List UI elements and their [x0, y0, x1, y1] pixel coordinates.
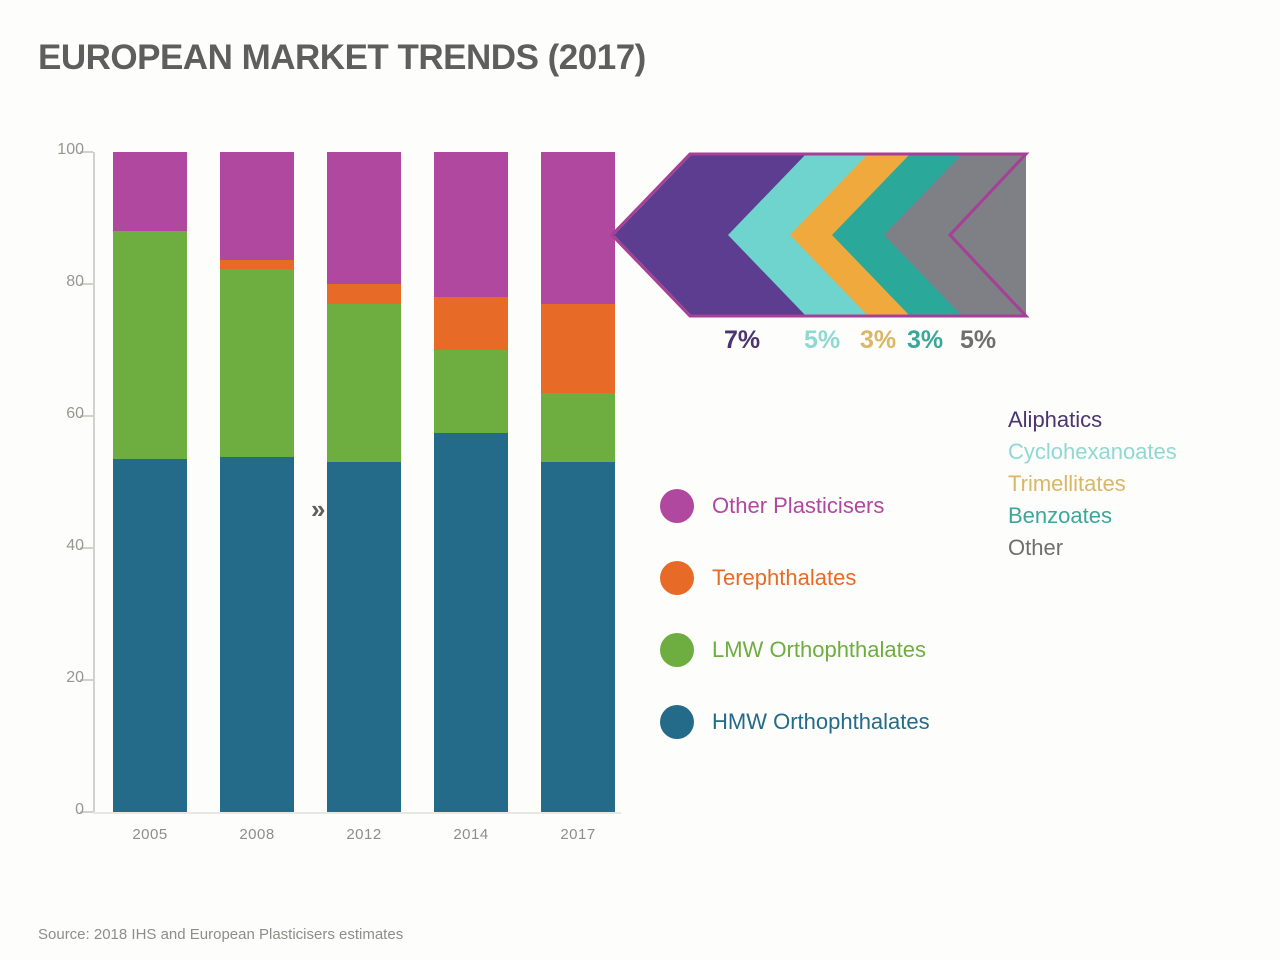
legend-label: LMW Orthophthalates	[712, 637, 926, 663]
bar-segment[interactable]	[327, 304, 401, 462]
breakdown-percent: 7%	[724, 326, 760, 355]
bar-2012[interactable]	[327, 152, 401, 812]
x-tick-label: 2017	[541, 826, 615, 843]
legend-label: Terephthalates	[712, 565, 856, 591]
bar-segment[interactable]	[434, 152, 508, 297]
breakdown-legend-item[interactable]: Other	[1008, 534, 1268, 562]
x-tick-label: 2008	[220, 826, 294, 843]
bar-segment[interactable]	[113, 152, 187, 231]
bar-segment[interactable]	[327, 462, 401, 812]
chevron-svg	[610, 150, 1030, 320]
bar-segment[interactable]	[327, 284, 401, 304]
bar-segment[interactable]	[113, 231, 187, 459]
expand-chevrons-icon: »	[311, 494, 323, 525]
bar-2014[interactable]	[434, 152, 508, 812]
legend-color-dot	[660, 489, 694, 523]
x-tick-label: 2014	[434, 826, 508, 843]
x-tick-label: 2005	[113, 826, 187, 843]
legend-label: Other Plasticisers	[712, 493, 884, 519]
y-tick-label: 40	[38, 537, 84, 555]
bar-2008[interactable]	[220, 152, 294, 812]
y-tick-label: 100	[38, 141, 84, 159]
bar-2005[interactable]	[113, 152, 187, 812]
bar-segment[interactable]	[113, 459, 187, 812]
bar-segment[interactable]	[434, 433, 508, 813]
y-tick-label: 0	[38, 801, 84, 819]
y-tick-label: 20	[38, 669, 84, 687]
bar-segment[interactable]	[220, 269, 294, 457]
breakdown-percent: 5%	[960, 326, 996, 355]
breakdown-percent-labels: 7%5%3%3%5%	[610, 326, 1030, 360]
breakdown-legend-item[interactable]: Trimellitates	[1008, 470, 1268, 498]
x-tick-label: 2012	[327, 826, 401, 843]
legend-color-dot	[660, 561, 694, 595]
bar-segment[interactable]	[327, 152, 401, 284]
chart-canvas: EUROPEAN MARKET TRENDS (2017) 1008060402…	[0, 0, 1280, 960]
bar-segment[interactable]	[220, 152, 294, 260]
breakdown-legend-item[interactable]: Cyclohexanoates	[1008, 438, 1268, 466]
bar-segment[interactable]	[541, 462, 615, 812]
legend-item[interactable]: HMW Orthophthalates	[660, 702, 930, 742]
bar-segment[interactable]	[541, 304, 615, 393]
breakdown-legend: AliphaticsCyclohexanoatesTrimellitatesBe…	[1008, 406, 1268, 566]
legend-item[interactable]: Terephthalates	[660, 558, 856, 598]
breakdown-chevron-graphic	[610, 150, 1030, 320]
legend-item[interactable]: Other Plasticisers	[660, 486, 884, 526]
page-title: EUROPEAN MARKET TRENDS (2017)	[38, 38, 646, 78]
bar-segment[interactable]	[434, 350, 508, 433]
legend-color-dot	[660, 633, 694, 667]
bar-segment[interactable]	[434, 297, 508, 350]
legend-label: HMW Orthophthalates	[712, 709, 930, 735]
breakdown-percent: 5%	[804, 326, 840, 355]
breakdown-legend-item[interactable]: Benzoates	[1008, 502, 1268, 530]
bar-segment[interactable]	[541, 152, 615, 304]
breakdown-legend-item[interactable]: Aliphatics	[1008, 406, 1268, 434]
bar-2017[interactable]	[541, 152, 615, 812]
y-tick-label: 80	[38, 273, 84, 291]
source-note: Source: 2018 IHS and European Plasticise…	[38, 926, 403, 943]
legend-color-dot	[660, 705, 694, 739]
bar-segment[interactable]	[220, 457, 294, 812]
y-tick-label: 60	[38, 405, 84, 423]
breakdown-percent: 3%	[907, 326, 943, 355]
x-axis-line	[93, 812, 621, 814]
stacked-bars	[93, 152, 621, 812]
bar-segment[interactable]	[541, 393, 615, 462]
breakdown-percent: 3%	[860, 326, 896, 355]
bar-segment[interactable]	[220, 260, 294, 269]
legend-item[interactable]: LMW Orthophthalates	[660, 630, 926, 670]
